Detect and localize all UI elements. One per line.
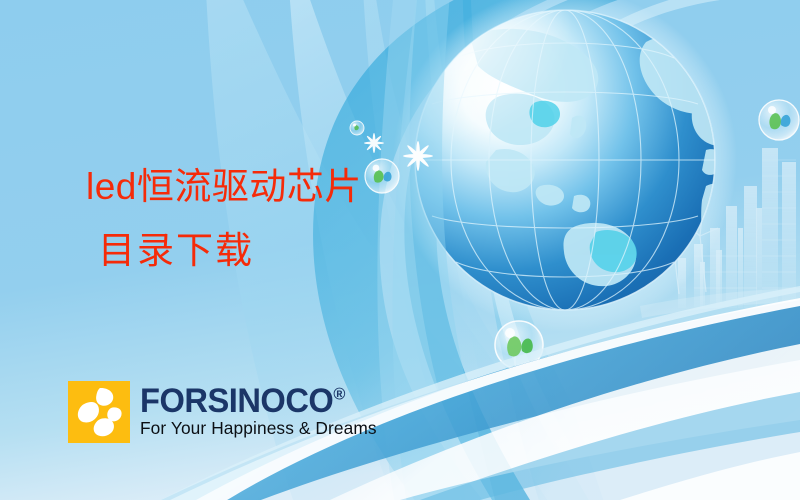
logo-wordmark-text: FORSINOCO — [140, 382, 333, 420]
bubble-leaf-medium — [365, 159, 399, 193]
headline-line-2: 目录下载 — [98, 232, 254, 269]
sparkle-large — [403, 141, 433, 171]
bubble-leaf-edge — [759, 100, 799, 140]
registered-trademark-symbol: ® — [333, 385, 345, 404]
headline-line-1: led恒流驱动芯片 — [86, 168, 362, 205]
logo-tagline: For Your Happiness & Dreams — [140, 418, 377, 439]
company-logo: FORSINOCO® For Your Happiness & Dreams — [68, 381, 379, 443]
forsinoco-petal-mark — [68, 381, 130, 443]
bubble-leaf-small — [350, 121, 364, 135]
logo-text-block: FORSINOCO® For Your Happiness & Dreams — [140, 385, 379, 439]
logo-wordmark: FORSINOCO® — [140, 385, 370, 417]
sparkle-small — [364, 133, 384, 153]
banner-image: led恒流驱动芯片 目录下载 FORSINOCO® For Your Happi… — [0, 0, 800, 500]
